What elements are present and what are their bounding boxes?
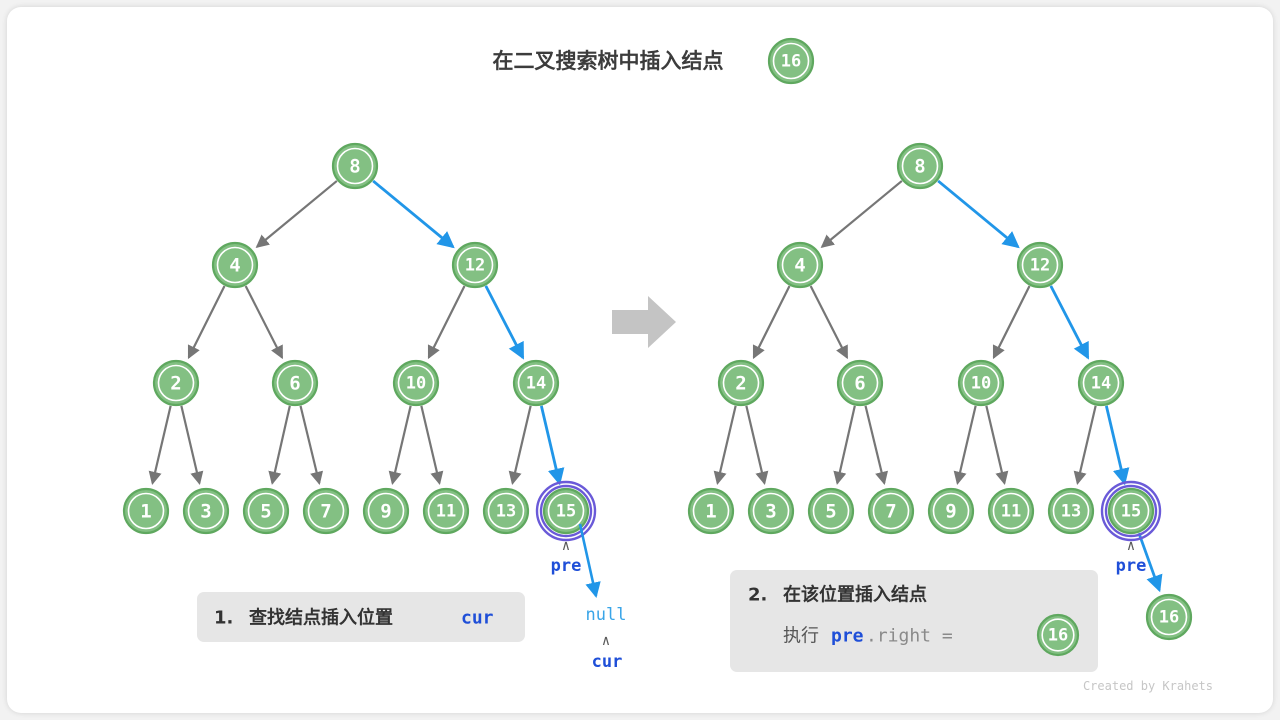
right-tree-node-value: 8 bbox=[914, 156, 925, 178]
right-tree-node-16: 16 bbox=[1147, 595, 1191, 639]
right-tree-node-value: 6 bbox=[854, 373, 865, 395]
left-tree-node-value: 4 bbox=[229, 255, 240, 277]
left-tree-node-1: 1 bbox=[124, 489, 168, 533]
left-tree-node-value: 9 bbox=[380, 501, 391, 523]
right-tree-edge-R8-R12 bbox=[938, 181, 1018, 247]
left-tree-node-value: 13 bbox=[496, 502, 516, 522]
left-pre-label: pre bbox=[551, 556, 582, 576]
right-tree-node-7: 7 bbox=[869, 489, 913, 533]
left-tree-edge-L14-L15 bbox=[541, 406, 559, 483]
left-cur-label: cur bbox=[592, 652, 623, 672]
step-transition-arrow bbox=[612, 296, 676, 348]
right-tree-node-2: 2 bbox=[719, 361, 763, 405]
left-tree-edge-L8-L4 bbox=[257, 181, 337, 247]
left-tree-node-value: 10 bbox=[406, 374, 426, 394]
left-tree-edge-L14-L13 bbox=[513, 406, 531, 483]
left-tree-node-8: 8 bbox=[333, 144, 377, 188]
left-tree-edge-L8-L12 bbox=[373, 181, 453, 247]
legend-2-code-pre: pre bbox=[831, 626, 864, 647]
right-tree-node-13: 13 bbox=[1049, 489, 1093, 533]
left-tree-node-value: 12 bbox=[465, 256, 485, 276]
figure-canvas: 在二叉搜索树中插入结点 16 841226101413579111315 ∧ p… bbox=[0, 0, 1280, 720]
right-tree-node-value: 1 bbox=[705, 501, 716, 523]
left-cur-pointer-edge bbox=[580, 524, 596, 596]
right-tree-node-12: 12 bbox=[1018, 243, 1062, 287]
left-tree-node-value: 1 bbox=[140, 501, 151, 523]
right-tree-node-14: 14 bbox=[1079, 361, 1123, 405]
title-badge-node: 16 bbox=[769, 39, 813, 83]
right-tree-node-value: 10 bbox=[971, 374, 991, 394]
title-badge-value: 16 bbox=[781, 52, 801, 72]
left-tree-node-2: 2 bbox=[154, 361, 198, 405]
legend-2-line1: 在该位置插入结点 bbox=[783, 584, 927, 606]
right-tree-node-value: 4 bbox=[794, 255, 805, 277]
left-tree-node-value: 5 bbox=[260, 501, 271, 523]
right-tree-node-value: 5 bbox=[825, 501, 836, 523]
legend-1-code-cur: cur bbox=[461, 608, 494, 629]
left-tree-node-7: 7 bbox=[304, 489, 348, 533]
left-tree-node-value: 6 bbox=[289, 373, 300, 395]
legend-2-line2-prefix: 执行 bbox=[783, 626, 819, 647]
left-tree-edge-L10-L9 bbox=[393, 406, 411, 483]
right-tree-node-value: 12 bbox=[1030, 256, 1050, 276]
left-tree-nodes: 841226101413579111315 bbox=[124, 144, 595, 540]
right-tree-node-value: 7 bbox=[885, 501, 896, 523]
right-tree-edge-R14-R15 bbox=[1106, 406, 1124, 483]
legend-step-1: 1. 查找结点插入位置 cur bbox=[197, 592, 525, 642]
right-tree-edge-R10-R11 bbox=[986, 406, 1004, 483]
legend-1-number: 1. bbox=[214, 608, 233, 629]
right-tree-edge-R4-R6 bbox=[811, 286, 847, 358]
legend-step-2: 2. 在该位置插入结点 执行 pre .right = 16 bbox=[730, 570, 1098, 672]
left-tree-node-13: 13 bbox=[484, 489, 528, 533]
left-tree-node-value: 15 bbox=[556, 502, 576, 522]
left-tree-node-4: 4 bbox=[213, 243, 257, 287]
left-tree-node-5: 5 bbox=[244, 489, 288, 533]
right-tree-node-11: 11 bbox=[989, 489, 1033, 533]
right-tree-node-15: 15 bbox=[1102, 482, 1160, 540]
right-tree-edge-R4-R2 bbox=[754, 286, 790, 357]
right-tree-edge-R14-R13 bbox=[1078, 406, 1096, 483]
right-tree-edge-R8-R4 bbox=[822, 181, 902, 247]
right-tree-node-value: 2 bbox=[735, 373, 746, 395]
right-tree-edge-R6-R7 bbox=[866, 406, 885, 483]
right-tree-edge-R2-R1 bbox=[718, 406, 736, 483]
left-tree-edges bbox=[153, 181, 560, 483]
legend-2-number: 2. bbox=[748, 585, 767, 606]
right-tree-node-6: 6 bbox=[838, 361, 882, 405]
credit-text: Created by Krahets bbox=[1083, 679, 1213, 693]
left-tree-edge-L6-L7 bbox=[301, 406, 320, 483]
left-tree-edge-L12-L14 bbox=[486, 286, 523, 358]
legend-2-badge-node: 16 bbox=[1038, 615, 1078, 655]
left-tree-edge-L12-L10 bbox=[429, 286, 465, 357]
right-tree-node-8: 8 bbox=[898, 144, 942, 188]
right-tree-node-value: 9 bbox=[945, 501, 956, 523]
left-tree-edge-L4-L6 bbox=[246, 286, 282, 358]
left-tree-node-6: 6 bbox=[273, 361, 317, 405]
right-tree-node-value: 3 bbox=[765, 501, 776, 523]
page-title: 在二叉搜索树中插入结点 bbox=[493, 49, 724, 73]
right-pre-caret: ∧ bbox=[1127, 538, 1135, 554]
left-tree-edge-L10-L11 bbox=[421, 406, 439, 483]
left-tree-node-11: 11 bbox=[424, 489, 468, 533]
legend-2-badge-value: 16 bbox=[1048, 626, 1068, 646]
left-tree-node-9: 9 bbox=[364, 489, 408, 533]
right-tree-node-3: 3 bbox=[749, 489, 793, 533]
left-tree-node-10: 10 bbox=[394, 361, 438, 405]
left-tree-edge-L2-L1 bbox=[153, 406, 171, 483]
left-pre-caret: ∧ bbox=[562, 538, 570, 554]
left-tree-node-value: 14 bbox=[526, 374, 546, 394]
left-tree-node-value: 7 bbox=[320, 501, 331, 523]
left-tree-node-value: 11 bbox=[436, 502, 456, 522]
right-tree-node-1: 1 bbox=[689, 489, 733, 533]
left-tree-node-15: 15 bbox=[537, 482, 595, 540]
right-tree-edge-R10-R9 bbox=[958, 406, 976, 483]
right-tree-node-9: 9 bbox=[929, 489, 973, 533]
left-tree-node-value: 3 bbox=[200, 501, 211, 523]
right-tree-edge-R2-R3 bbox=[746, 406, 764, 483]
right-tree-node-value: 16 bbox=[1159, 608, 1179, 628]
right-tree-edge-R12-R10 bbox=[994, 286, 1030, 357]
right-tree-node-value: 14 bbox=[1091, 374, 1111, 394]
left-tree-node-value: 8 bbox=[349, 156, 360, 178]
left-tree-edge-L4-L2 bbox=[189, 286, 225, 357]
left-tree-node-3: 3 bbox=[184, 489, 228, 533]
left-tree-edge-L6-L5 bbox=[272, 406, 290, 483]
right-tree-node-value: 13 bbox=[1061, 502, 1081, 522]
legend-2-code-rest: .right = bbox=[866, 626, 953, 647]
left-null-label: null bbox=[586, 605, 627, 625]
left-cur-caret: ∧ bbox=[602, 633, 610, 649]
right-tree-edge-R6-R5 bbox=[837, 406, 855, 483]
right-tree-node-value: 15 bbox=[1121, 502, 1141, 522]
left-tree-node-14: 14 bbox=[514, 361, 558, 405]
left-tree-node-12: 12 bbox=[453, 243, 497, 287]
left-tree-node-value: 2 bbox=[170, 373, 181, 395]
right-tree-node-4: 4 bbox=[778, 243, 822, 287]
right-tree-node-5: 5 bbox=[809, 489, 853, 533]
left-tree-edge-L2-L3 bbox=[181, 406, 199, 483]
right-pre-label: pre bbox=[1116, 556, 1147, 576]
right-tree-node-value: 11 bbox=[1001, 502, 1021, 522]
page-root: 在二叉搜索树中插入结点 16 841226101413579111315 ∧ p… bbox=[0, 0, 1280, 720]
legend-1-text: 查找结点插入位置 bbox=[249, 607, 393, 629]
right-tree-node-10: 10 bbox=[959, 361, 1003, 405]
right-tree-edge-R12-R14 bbox=[1051, 286, 1088, 358]
